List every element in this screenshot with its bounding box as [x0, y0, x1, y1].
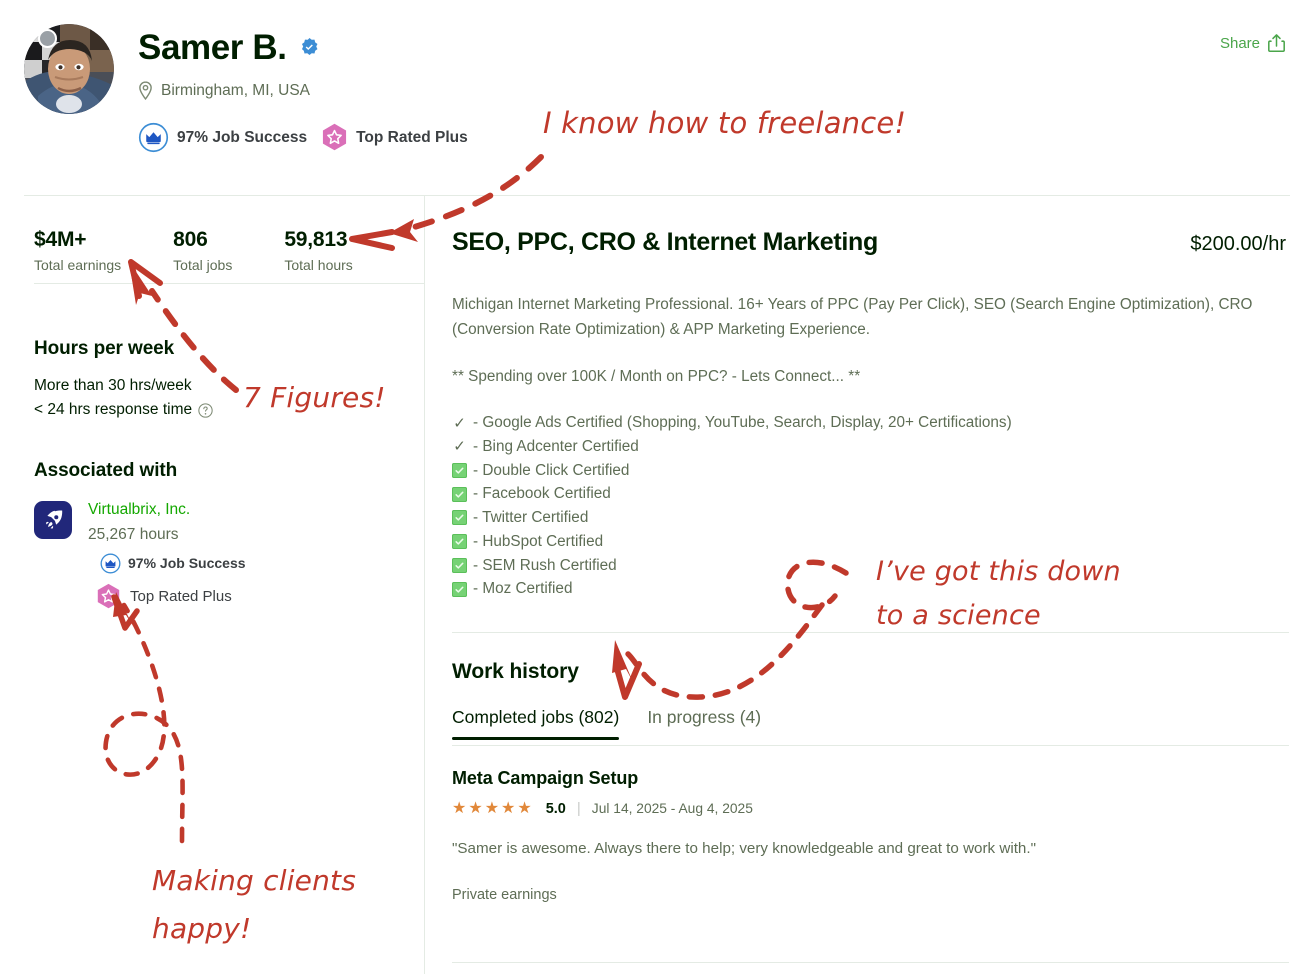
agency-top-rated-label: Top Rated Plus: [130, 588, 232, 605]
stat-total-hours: 59,813 Total hours: [284, 228, 352, 273]
work-history-divider: [452, 632, 1289, 633]
certification-text: - Bing Adcenter Certified: [473, 435, 639, 459]
check-glyph-icon: ✓: [452, 435, 467, 458]
share-label: Share: [1220, 35, 1260, 52]
certification-text: - Moz Certified: [473, 577, 572, 601]
map-pin-icon: [138, 81, 153, 100]
job-paragraph-2: ** Spending over 100K / Month on PPC? - …: [452, 365, 1254, 390]
star-icon: ★: [468, 801, 482, 817]
certification-text: - SEM Rush Certified: [473, 554, 617, 578]
star-hexagon-icon: [96, 583, 121, 610]
stat-total-jobs: 806 Total jobs: [173, 228, 232, 273]
certification-text: - Google Ads Certified (Shopping, YouTub…: [473, 411, 1012, 435]
entry-title[interactable]: Meta Campaign Setup: [452, 768, 1286, 789]
profile-location: Birmingham, MI, USA: [138, 81, 310, 100]
tab-in-progress[interactable]: In progress (4): [647, 707, 761, 740]
meta-separator: |: [577, 800, 581, 817]
tab-completed-jobs[interactable]: Completed jobs (802): [452, 707, 619, 740]
green-checkbox-icon: [452, 582, 467, 597]
stat-total-earnings: $4M+ Total earnings: [34, 228, 121, 273]
stat-label: Total earnings: [34, 257, 121, 273]
profile-badges: 97% Job Success Top Rated Plus: [138, 122, 468, 153]
star-rating: ★ ★ ★ ★ ★: [452, 801, 532, 817]
job-rate: $200.00/hr: [1190, 233, 1286, 256]
certification-item: - Twitter Certified: [452, 506, 1254, 530]
share-upload-icon: [1267, 33, 1286, 53]
stat-label: Total jobs: [173, 257, 232, 273]
rocket-icon: [34, 501, 72, 539]
work-history-title: Work history: [452, 660, 761, 684]
agency-job-success-badge[interactable]: 97% Job Success: [100, 553, 246, 574]
certification-item: ✓ - Bing Adcenter Certified: [452, 435, 1254, 459]
work-history-section: Work history Completed jobs (802) In pro…: [452, 660, 761, 740]
profile-name-row: Samer B.: [138, 30, 320, 65]
stat-label: Total hours: [284, 257, 352, 273]
associated-agency: Virtualbrix, Inc. 25,267 hours 97% Job S…: [34, 501, 246, 610]
check-glyph-icon: ✓: [452, 412, 467, 435]
work-history-tabs: Completed jobs (802) In progress (4): [452, 707, 761, 740]
job-description: Michigan Internet Marketing Professional…: [452, 293, 1254, 601]
profile-main: SEO, PPC, CRO & Internet Marketing $200.…: [425, 195, 1314, 974]
certification-item: ✓ - Google Ads Certified (Shopping, YouT…: [452, 411, 1254, 435]
job-header: SEO, PPC, CRO & Internet Marketing $200.…: [452, 228, 1286, 257]
online-status-dot: [38, 29, 57, 48]
entry-bottom-divider: [452, 962, 1289, 963]
hours-per-week-title: Hours per week: [34, 338, 213, 360]
star-icon: ★: [517, 801, 531, 817]
question-mark-circle-icon[interactable]: [198, 403, 213, 418]
profile-sidebar: $4M+ Total earnings 806 Total jobs 59,81…: [0, 195, 424, 974]
stats-row: $4M+ Total earnings 806 Total jobs 59,81…: [34, 228, 353, 273]
certification-item: - Facebook Certified: [452, 482, 1254, 506]
crown-badge-icon: [138, 122, 169, 153]
green-checkbox-icon: [452, 534, 467, 549]
entry-earnings: Private earnings: [452, 887, 1286, 903]
certification-text: - Facebook Certified: [473, 482, 611, 506]
rating-value: 5.0: [546, 801, 566, 817]
certification-item: - Moz Certified: [452, 577, 1254, 601]
certification-text: - Double Click Certified: [473, 459, 629, 483]
star-hexagon-icon: [321, 123, 348, 152]
green-checkbox-icon: [452, 558, 467, 573]
green-checkbox-icon: [452, 487, 467, 502]
star-icon: ★: [452, 801, 466, 817]
associated-with-section: Associated with Virtualbrix, Inc. 25,267…: [34, 460, 246, 610]
certification-text: - HubSpot Certified: [473, 530, 603, 554]
job-success-badge[interactable]: 97% Job Success: [138, 122, 307, 153]
star-icon: ★: [485, 801, 499, 817]
certification-item: - Double Click Certified: [452, 459, 1254, 483]
stats-divider: [34, 283, 424, 284]
agency-job-success-label: 97% Job Success: [128, 555, 246, 571]
certification-item: - HubSpot Certified: [452, 530, 1254, 554]
top-rated-plus-badge[interactable]: Top Rated Plus: [321, 123, 468, 152]
green-checkbox-icon: [452, 463, 467, 478]
tabs-divider: [452, 745, 1289, 746]
hours-per-week-section: Hours per week More than 30 hrs/week < 2…: [34, 338, 213, 419]
associated-with-title: Associated with: [34, 460, 246, 482]
agency-name-link[interactable]: Virtualbrix, Inc.: [88, 501, 246, 520]
certification-list: ✓ - Google Ads Certified (Shopping, YouT…: [452, 411, 1254, 601]
green-checkbox-icon: [452, 510, 467, 525]
verified-badge-icon: [299, 37, 320, 58]
stat-value: 806: [173, 228, 232, 252]
profile-header: Samer B. Birmingham, MI, USA 97% Job Suc…: [0, 0, 1314, 195]
stat-value: 59,813: [284, 228, 352, 252]
certification-text: - Twitter Certified: [473, 506, 588, 530]
star-icon: ★: [501, 801, 515, 817]
profile-page: Samer B. Birmingham, MI, USA 97% Job Suc…: [0, 0, 1314, 974]
hours-per-week-value: More than 30 hrs/week: [34, 377, 213, 395]
job-title: SEO, PPC, CRO & Internet Marketing: [452, 228, 878, 257]
response-time-value: < 24 hrs response time: [34, 401, 192, 419]
page-title: Samer B.: [138, 30, 287, 65]
work-history-entry: Meta Campaign Setup ★ ★ ★ ★ ★ 5.0 | Jul …: [452, 768, 1286, 903]
share-button[interactable]: Share: [1220, 33, 1286, 53]
job-success-label: 97% Job Success: [177, 129, 307, 147]
agency-info: Virtualbrix, Inc. 25,267 hours 97% Job S…: [88, 501, 246, 610]
job-paragraph-1: Michigan Internet Marketing Professional…: [452, 293, 1254, 343]
crown-badge-icon: [100, 553, 121, 574]
agency-hours: 25,267 hours: [88, 526, 246, 544]
top-rated-plus-label: Top Rated Plus: [356, 129, 468, 147]
entry-meta: ★ ★ ★ ★ ★ 5.0 | Jul 14, 2025 - Aug 4, 20…: [452, 800, 1286, 817]
agency-top-rated-badge[interactable]: Top Rated Plus: [96, 583, 246, 610]
entry-dates: Jul 14, 2025 - Aug 4, 2025: [592, 801, 753, 816]
location-text: Birmingham, MI, USA: [161, 82, 310, 100]
certification-item: - SEM Rush Certified: [452, 554, 1254, 578]
entry-review-quote: "Samer is awesome. Always there to help;…: [452, 838, 1286, 861]
stat-value: $4M+: [34, 228, 121, 252]
avatar[interactable]: [24, 24, 114, 114]
response-time-row: < 24 hrs response time: [34, 401, 213, 419]
